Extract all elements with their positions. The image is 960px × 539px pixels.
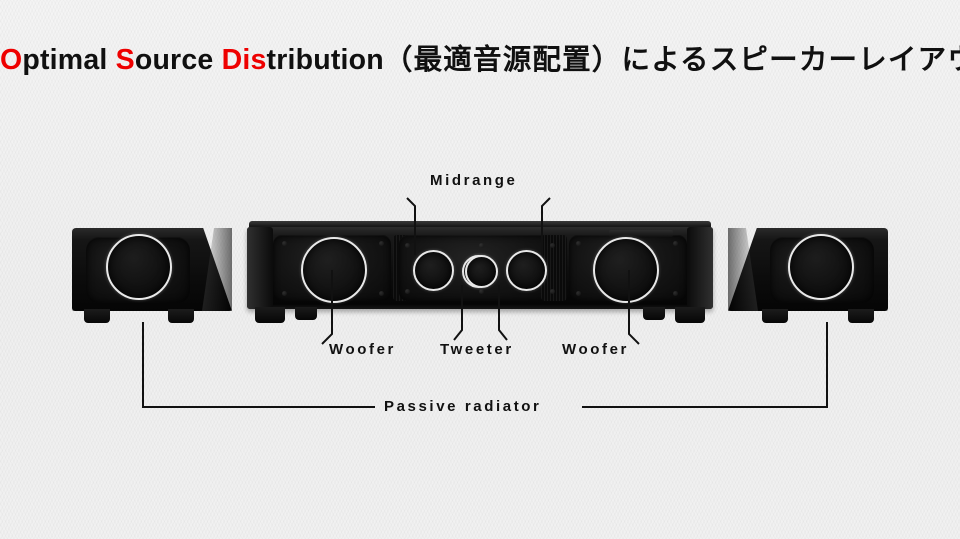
label-midrange: Midrange [430, 172, 517, 189]
label-woofer-right: Woofer [562, 341, 629, 358]
bar-screw-6 [405, 289, 410, 294]
bar-foot-1 [255, 307, 285, 323]
right-satellite-speaker [728, 228, 888, 323]
bar-screw-9 [576, 241, 581, 246]
bar-screw-2 [282, 291, 287, 296]
left-speaker-foot-2 [168, 309, 194, 323]
bar-screw-1 [282, 241, 287, 246]
bar-foot-3 [643, 307, 665, 320]
left-satellite-speaker [72, 228, 232, 323]
bar-screw-4 [379, 291, 384, 296]
title-black-tribution: tribution [267, 44, 384, 76]
title-black-ource: ource [135, 44, 222, 76]
bar-screw-10 [576, 291, 581, 296]
bar-midrange-right-driver [506, 250, 547, 291]
bar-foot-4 [675, 307, 705, 323]
right-speaker-foot-1 [762, 309, 788, 323]
leader-passive-radiator-left [143, 322, 375, 407]
bar-screw-12 [673, 291, 678, 296]
bar-screw-8 [550, 289, 555, 294]
left-speaker-foot-1 [84, 309, 110, 323]
bar-screw-5 [405, 243, 410, 248]
bar-endcap-right [687, 227, 713, 309]
bar-screw-3 [379, 241, 384, 246]
bar-endcap-left [247, 227, 273, 309]
bar-screw-11 [673, 241, 678, 246]
bar-screw-14 [479, 289, 484, 294]
right-speaker-foot-2 [848, 309, 874, 323]
diagram-canvas: Optimal Source Distribution（最適音源配置）によるスピ… [0, 0, 960, 539]
bar-screw-7 [550, 243, 555, 248]
label-woofer-left: Woofer [329, 341, 396, 358]
bar-woofer-left-driver [301, 237, 367, 303]
title-red-o: O [0, 44, 22, 76]
bar-badge-slot [609, 230, 673, 237]
bar-woofer-right-driver [593, 237, 659, 303]
title-japanese: （最適音源配置）によるスピーカーレイアウト [384, 43, 960, 76]
bar-screw-13 [479, 243, 484, 248]
label-passive-radiator: Passive radiator [384, 398, 542, 415]
bar-midrange-left-driver [413, 250, 454, 291]
page-title: Optimal Source Distribution（最適音源配置）によるスピ… [0, 44, 960, 76]
title-red-dis: Dis [222, 44, 267, 76]
right-passive-radiator-driver [788, 234, 854, 300]
leader-passive-radiator-right [582, 322, 827, 407]
title-black-ptimal: ptimal [22, 44, 115, 76]
bar-foot-2 [295, 307, 317, 320]
left-passive-radiator-driver [106, 234, 172, 300]
label-tweeter: Tweeter [440, 341, 514, 358]
center-sound-bar [247, 221, 713, 325]
bar-tweeter-right-driver [465, 255, 498, 288]
title-red-s: S [116, 44, 135, 76]
